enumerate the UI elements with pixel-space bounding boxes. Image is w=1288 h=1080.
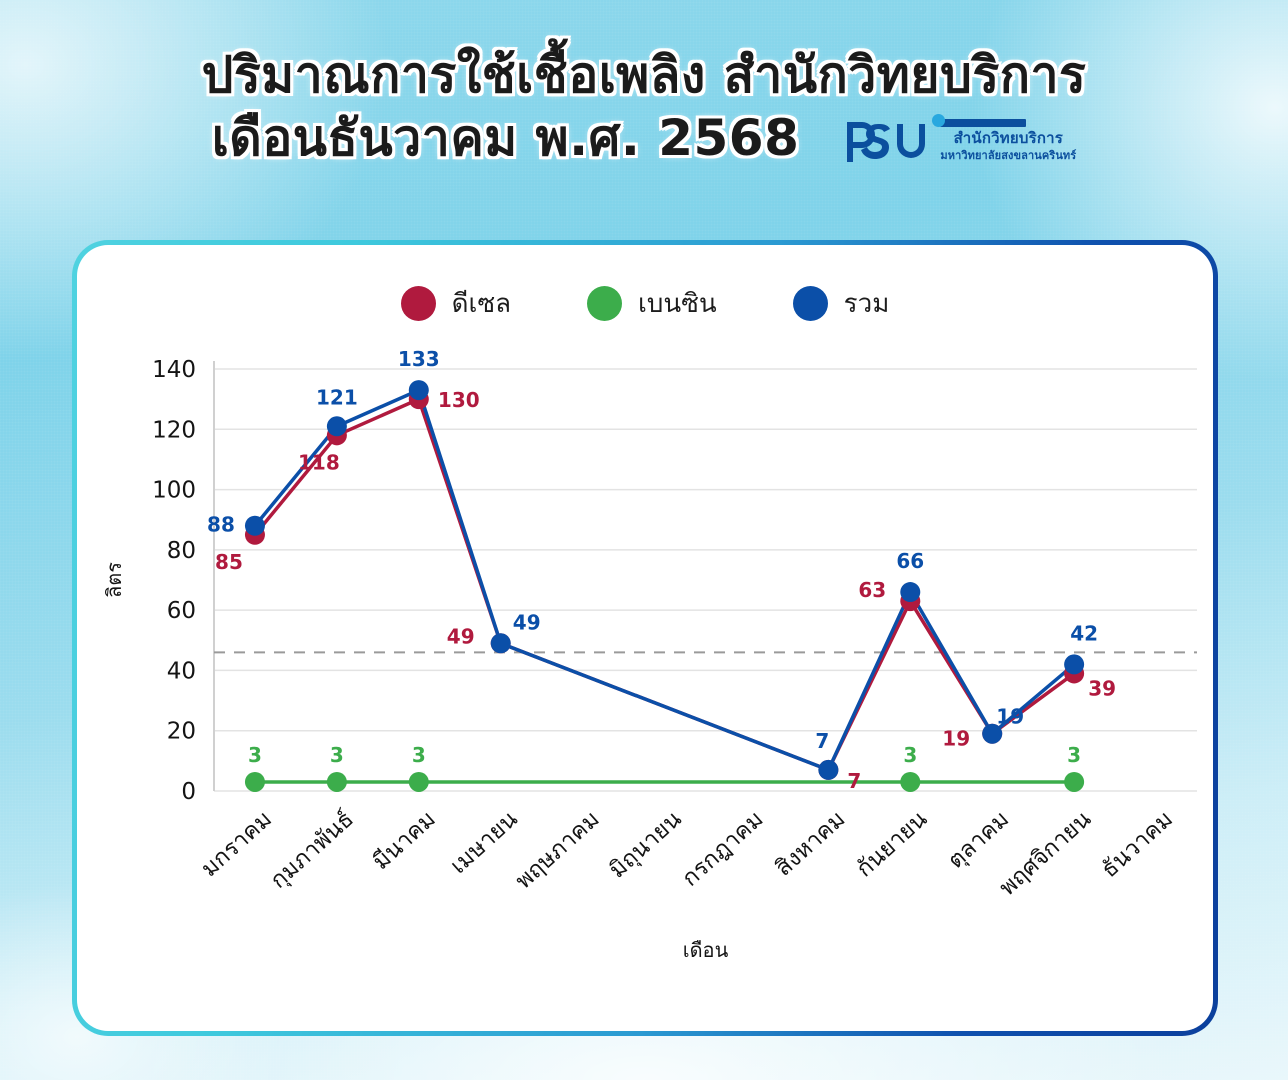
data-label-รวม-กันยายน: 66 [896, 549, 924, 573]
data-label-ดีเซล-สิงหาคม: 7 [847, 769, 861, 793]
series-line-รวม [255, 390, 1074, 770]
x-axis-tick-เมษายน: เมษายน [446, 806, 523, 879]
data-point-รวม-มกราคม [245, 516, 265, 536]
psu-logo-bar-icon [940, 119, 1026, 127]
data-point-รวม-กุมภาพันธ์ [327, 416, 347, 436]
data-label-ดีเซล-มกราคม: 85 [215, 550, 243, 574]
psu-org-line1: สำนักวิทยบริการ [940, 130, 1076, 147]
data-label-รวม-พฤศจิกายน: 42 [1070, 621, 1098, 645]
psu-org-line2: มหาวิทยาลัยสงขลานครินทร์ [940, 150, 1076, 163]
data-point-เบนซิน-พฤศจิกายน [1064, 772, 1084, 792]
psu-wordmark-icon [845, 116, 931, 166]
x-axis-tick-สิงหาคม: สิงหาคม [771, 806, 851, 881]
data-label-รวม-กุมภาพันธ์: 121 [316, 385, 358, 409]
data-point-รวม-พฤศจิกายน [1064, 654, 1084, 674]
data-label-ดีเซล-พฤศจิกายน: 39 [1088, 676, 1116, 700]
page-title-line1: ปริมาณการใช้เชื้อเพลิง สำนักวิทยบริการ [0, 44, 1288, 107]
data-point-เบนซิน-กันยายน [900, 772, 920, 792]
y-axis-tick-100: 100 [152, 478, 196, 504]
page-title-line2: เดือนธันวาคม พ.ศ. 2568 [212, 107, 800, 170]
x-axis-title: เดือน [683, 938, 729, 962]
x-axis-tick-กรกฎาคม: กรกฎาคม [677, 806, 768, 892]
y-axis-tick-0: 0 [181, 779, 196, 805]
psu-logo: สำนักวิทยบริการ มหาวิทยาลัยสงขลานครินทร์ [845, 116, 1076, 166]
x-axis-tick-พฤศจิกายน: พฤศจิกายน [995, 806, 1097, 901]
data-label-เบนซิน-พฤศจิกายน: 3 [1067, 743, 1081, 767]
y-axis-tick-60: 60 [167, 598, 196, 624]
x-axis-tick-มีนาคม: มีนาคม [368, 806, 441, 875]
data-point-เบนซิน-มกราคม [245, 772, 265, 792]
x-axis-tick-มิถุนายน: มิถุนายน [605, 806, 687, 884]
data-label-เบนซิน-กุมภาพันธ์: 3 [330, 743, 344, 767]
x-axis-tick-ตุลาคม: ตุลาคม [943, 806, 1014, 874]
psu-dot-icon [932, 114, 945, 127]
data-label-ดีเซล-ตุลาคม: 19 [942, 727, 970, 751]
y-axis-tick-120: 120 [152, 417, 196, 443]
title-and-logo-row: เดือนธันวาคม พ.ศ. 2568 สำนักวิทยบริการ ม… [0, 107, 1288, 170]
series-line-ดีเซล [255, 399, 1074, 770]
psu-logo-text: สำนักวิทยบริการ มหาวิทยาลัยสงขลานครินทร์ [940, 119, 1076, 163]
data-point-เบนซิน-มีนาคม [409, 772, 429, 792]
x-axis-tick-พฤษภาคม: พฤษภาคม [511, 806, 605, 894]
y-axis-tick-80: 80 [167, 538, 196, 564]
data-label-เบนซิน-มีนาคม: 3 [412, 743, 426, 767]
data-label-รวม-เมษายน: 49 [513, 610, 541, 634]
x-axis-tick-กุมภาพันธ์: กุมภาพันธ์ [265, 805, 359, 893]
page-header: ปริมาณการใช้เชื้อเพลิง สำนักวิทยบริการ เ… [0, 44, 1288, 170]
line-chart: 0204060801001201408511813049763193933333… [77, 245, 1223, 1041]
data-label-เบนซิน-กันยายน: 3 [903, 743, 917, 767]
y-axis-title: ลิตร [102, 562, 126, 598]
y-axis-tick-140: 140 [152, 357, 196, 383]
data-label-ดีเซล-กันยายน: 63 [858, 578, 886, 602]
data-label-รวม-สิงหาคม: 7 [815, 729, 829, 753]
data-label-รวม-มกราคม: 88 [207, 513, 235, 537]
data-point-รวม-เมษายน [491, 633, 511, 653]
data-label-รวม-มีนาคม: 133 [398, 347, 440, 371]
data-label-ดีเซล-เมษายน: 49 [447, 624, 475, 648]
y-axis-tick-20: 20 [167, 719, 196, 745]
chart-plot-area: 0204060801001201408511813049763193933333… [77, 245, 1213, 1031]
data-label-ดีเซล-กุมภาพันธ์: 118 [298, 450, 340, 474]
data-point-รวม-มีนาคม [409, 380, 429, 400]
x-axis-tick-ธันวาคม: ธันวาคม [1097, 806, 1178, 883]
data-point-รวม-สิงหาคม [818, 760, 838, 780]
data-label-รวม-ตุลาคม: 19 [996, 705, 1024, 729]
x-axis-tick-กันยายน: กันยายน [852, 806, 933, 883]
y-axis-tick-40: 40 [167, 658, 196, 684]
data-point-เบนซิน-กุมภาพันธ์ [327, 772, 347, 792]
data-point-รวม-กันยายน [900, 582, 920, 602]
x-axis-tick-มกราคม: มกราคม [196, 806, 276, 882]
chart-card: ดีเซล เบนซิน รวม 02040608010012014085118… [72, 240, 1218, 1036]
data-label-ดีเซล-มีนาคม: 130 [438, 388, 480, 412]
data-label-เบนซิน-มกราคม: 3 [248, 743, 262, 767]
